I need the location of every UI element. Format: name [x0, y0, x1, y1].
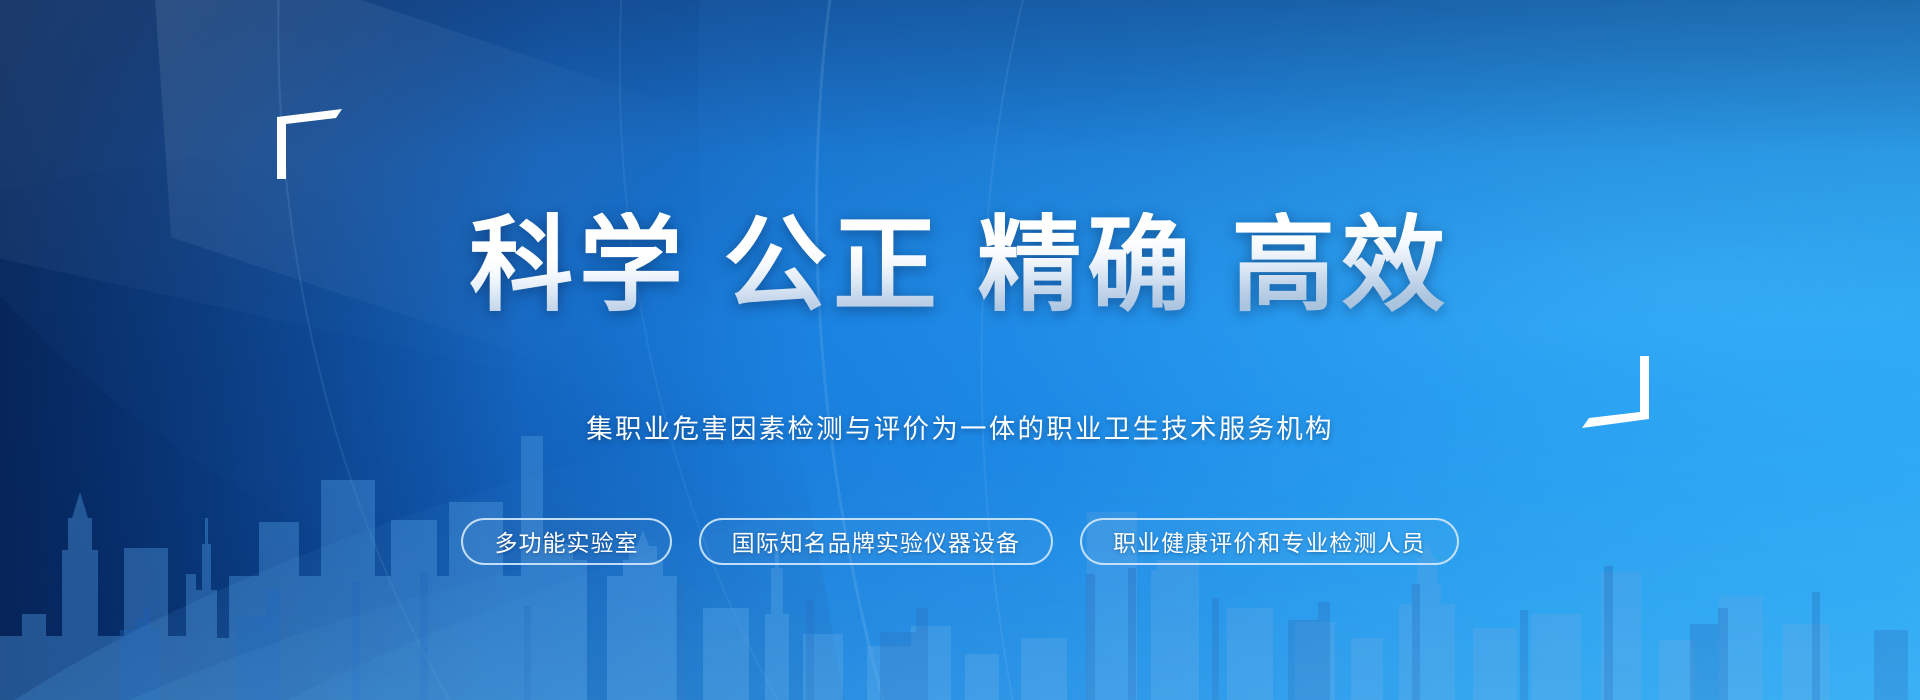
corner-bracket-bottom-right-icon [1578, 353, 1652, 431]
headline-block: 科学 公正 精确 高效 [330, 142, 1590, 391]
feature-pill-equipment[interactable]: 国际知名品牌实验仪器设备 [699, 518, 1053, 565]
feature-pill-personnel[interactable]: 职业健康评价和专业检测人员 [1080, 518, 1458, 565]
feature-pill-lab[interactable]: 多功能实验室 [461, 518, 671, 565]
corner-bracket-top-left-icon [274, 106, 344, 180]
banner-content: 科学 公正 精确 高效 集职业危害因素检测与评价为一体的职业卫生技术服务机构 多… [0, 0, 1920, 700]
promo-banner: 科学 公正 精确 高效 集职业危害因素检测与评价为一体的职业卫生技术服务机构 多… [0, 0, 1920, 700]
banner-subtitle: 集职业危害因素检测与评价为一体的职业卫生技术服务机构 [586, 407, 1334, 446]
feature-pill-list: 多功能实验室 国际知名品牌实验仪器设备 职业健康评价和专业检测人员 [461, 518, 1458, 565]
page-title: 科学 公正 精确 高效 [459, 212, 1461, 321]
